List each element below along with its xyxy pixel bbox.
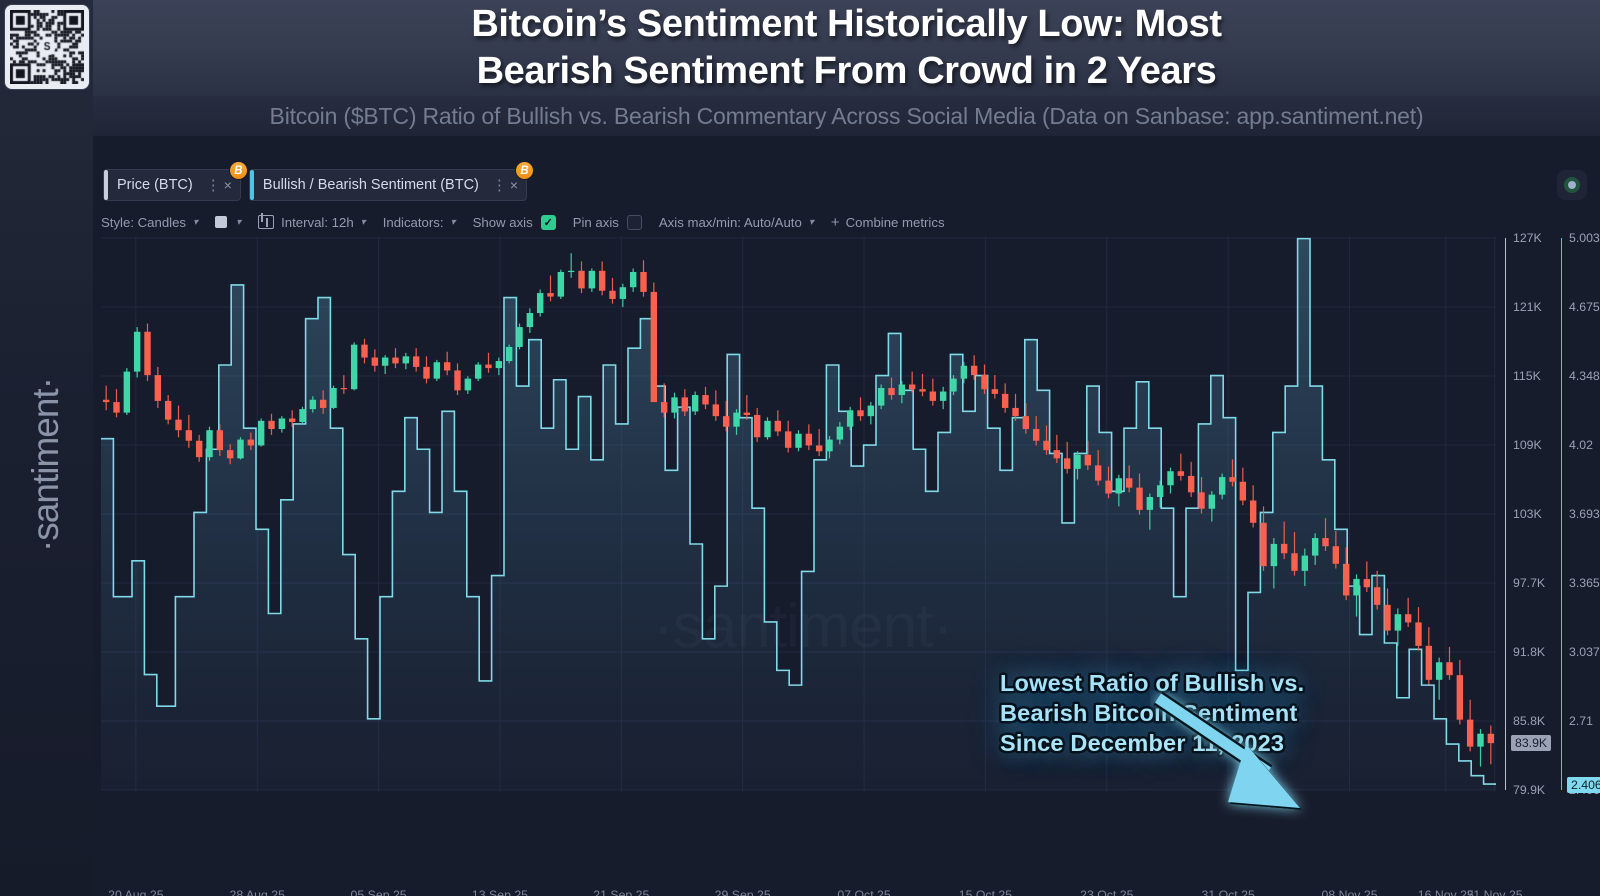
title-line-2: Bearish Sentiment From Crowd in 2 Years	[477, 48, 1217, 95]
settings-round-button[interactable]	[1557, 170, 1587, 200]
pin-axis-checkbox[interactable]	[627, 215, 642, 230]
axis-tick-label: 5.003	[1569, 231, 1600, 245]
combine-metrics-button[interactable]: + Combine metrics	[831, 214, 945, 231]
style-dropdown[interactable]: Style: Candles	[101, 215, 198, 230]
subtitle-text: Bitcoin ($BTC) Ratio of Bullish vs. Bear…	[270, 103, 1424, 130]
x-axis-tick-label: 31 Oct 25	[1201, 888, 1254, 896]
axis-tick-label: 115K	[1513, 369, 1541, 383]
axis-tick-label: 3.037	[1569, 645, 1600, 659]
x-axis-tick-label: 21 Sep 25	[593, 888, 649, 896]
axis-current-value-badge: 83.9K	[1511, 735, 1551, 751]
metric-menu-icon-price[interactable]: ⋮	[206, 181, 210, 190]
pin-axis-label: Pin axis	[573, 215, 619, 230]
x-axis: 20 Aug 2528 Aug 2505 Sep 2513 Sep 2521 S…	[101, 888, 1496, 896]
santiment-rail-watermark: ·santiment·	[0, 300, 93, 630]
bitcoin-icon-price: B	[229, 161, 248, 180]
color-swatch-icon	[215, 216, 227, 228]
axis-tick-label: 91.8K	[1513, 645, 1545, 659]
indicators-dropdown[interactable]: Indicators:	[383, 215, 456, 230]
interval-dropdown[interactable]: Interval: 12h	[258, 215, 366, 230]
style-label: Style: Candles	[101, 215, 186, 230]
x-axis-tick-label: 20 Aug 25	[108, 888, 163, 896]
title-line-1: Bitcoin’s Sentiment Historically Low: Mo…	[471, 1, 1221, 48]
metric-label-price: Price (BTC)	[117, 177, 193, 193]
chevron-down-icon	[451, 217, 456, 228]
annotation-arrow-icon	[1150, 690, 1470, 820]
metric-tabs: Price (BTC) ⋮ × B Bullish / Bearish Sent…	[103, 169, 527, 201]
x-axis-tick-label: 23 Oct 25	[1080, 888, 1133, 896]
rail-watermark-text: ·santiment·	[26, 378, 68, 552]
page-title: Bitcoin’s Sentiment Historically Low: Mo…	[93, 0, 1600, 96]
x-axis-tick-label: 29 Sep 25	[715, 888, 771, 896]
axis-current-value-badge: 2.406	[1567, 777, 1600, 793]
indicators-label: Indicators:	[383, 215, 444, 230]
axis-tick-label: 2.71	[1569, 714, 1593, 728]
axis-tick-label: 3.365	[1569, 576, 1600, 590]
metric-label-sentiment: Bullish / Bearish Sentiment (BTC)	[263, 177, 479, 193]
qr-code-canvas	[10, 10, 84, 84]
sentiment-axis: 5.0034.6754.3484.023.6933.3653.0372.712.…	[1561, 236, 1600, 896]
x-axis-tick-label: 21 Nov 25	[1467, 888, 1523, 896]
axis-tick-label: 121K	[1513, 300, 1542, 314]
candles-icon	[258, 215, 274, 229]
axis-tick-label: 4.02	[1569, 438, 1593, 452]
metric-close-icon-price[interactable]: ×	[224, 177, 232, 193]
axis-tick-label: 85.8K	[1513, 714, 1545, 728]
chart-toolbar: Style: Candles Interval: 12h Indicators:…	[101, 212, 962, 232]
x-axis-tick-label: 15 Oct 25	[959, 888, 1012, 896]
metric-chip-price[interactable]: Price (BTC) ⋮ × B	[103, 169, 241, 201]
axis-tick-label: 79.9K	[1513, 783, 1545, 797]
metric-color-bar-sentiment	[250, 170, 254, 200]
combine-metrics-label: Combine metrics	[846, 215, 945, 230]
axis-tick-label: 103K	[1513, 507, 1542, 521]
axis-minmax-label: Axis max/min: Auto/Auto	[659, 215, 802, 230]
show-axis-checkbox[interactable]: ✓	[541, 215, 556, 230]
axis-tick-label: 127K	[1513, 231, 1542, 245]
axis-tick-label: 4.348	[1569, 369, 1600, 383]
x-axis-tick-label: 05 Sep 25	[351, 888, 407, 896]
x-axis-tick-label: 13 Sep 25	[472, 888, 528, 896]
chevron-down-icon	[361, 217, 366, 228]
plus-icon: +	[831, 214, 840, 231]
page-subtitle: Bitcoin ($BTC) Ratio of Bullish vs. Bear…	[93, 96, 1600, 136]
left-rail: ·santiment·	[0, 0, 93, 896]
record-icon	[1564, 177, 1580, 193]
metric-color-bar-price	[104, 170, 108, 200]
x-axis-tick-label: 07 Oct 25	[837, 888, 890, 896]
color-swatch-dropdown[interactable]	[215, 216, 241, 228]
axis-tick-label: 4.675	[1569, 300, 1600, 314]
bitcoin-icon-sentiment: B	[515, 161, 534, 180]
axis-tick-label: 3.693	[1569, 507, 1600, 521]
chevron-down-icon	[236, 217, 241, 228]
x-axis-tick-label: 08 Nov 25	[1321, 888, 1377, 896]
metric-close-icon-sentiment[interactable]: ×	[510, 177, 518, 193]
metric-chip-sentiment[interactable]: Bullish / Bearish Sentiment (BTC) ⋮ × B	[249, 169, 527, 201]
show-axis-label: Show axis	[473, 215, 533, 230]
sentiment-axis-line	[1561, 238, 1562, 790]
price-axis: 127K121K115K109K103K97.7K91.8K85.8K79.9K…	[1505, 236, 1553, 896]
pin-axis-toggle[interactable]: Pin axis	[573, 215, 642, 230]
metric-menu-icon-sentiment[interactable]: ⋮	[492, 181, 496, 190]
x-axis-tick-label: 28 Aug 25	[230, 888, 285, 896]
chevron-down-icon	[193, 217, 198, 228]
show-axis-toggle[interactable]: Show axis ✓	[473, 215, 556, 230]
price-axis-line	[1505, 238, 1506, 790]
qr-code[interactable]	[5, 5, 89, 89]
interval-label: Interval: 12h	[281, 215, 354, 230]
x-axis-tick-label: 16 Nov 25	[1418, 888, 1474, 896]
axis-tick-label: 97.7K	[1513, 576, 1545, 590]
axis-tick-label: 109K	[1513, 438, 1542, 452]
chevron-down-icon	[809, 217, 814, 228]
axis-minmax-dropdown[interactable]: Axis max/min: Auto/Auto	[659, 215, 814, 230]
